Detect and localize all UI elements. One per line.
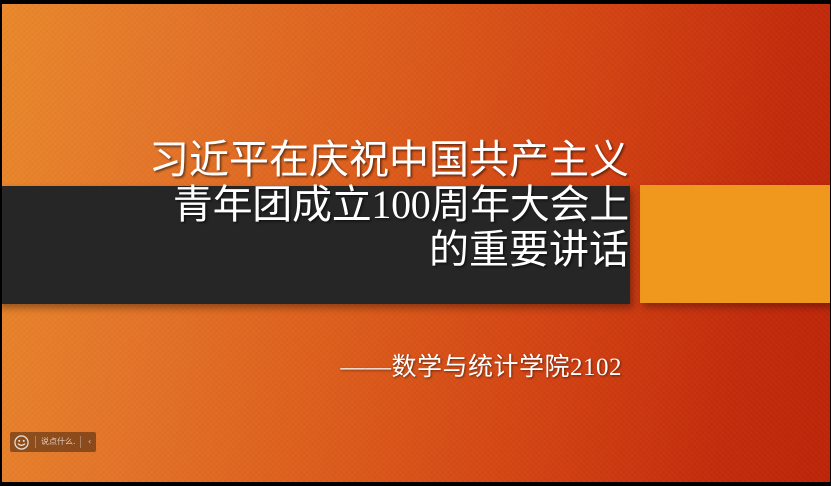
comment-bar-divider-1 — [35, 436, 36, 448]
presentation-window: 习近平在庆祝中国共产主义 青年团成立100周年大会上 的重要讲话 ——数学与统计… — [0, 0, 831, 486]
smiley-face-icon[interactable] — [13, 434, 30, 451]
slide-canvas: 习近平在庆祝中国共产主义 青年团成立100周年大会上 的重要讲话 ——数学与统计… — [2, 4, 830, 482]
slide-title: 习近平在庆祝中国共产主义 青年团成立100周年大会上 的重要讲话 — [2, 137, 629, 272]
comment-input-bar[interactable]: 说点什么... ‹ — [10, 432, 96, 452]
comment-bar-divider-2 — [80, 436, 81, 448]
slide-title-line-3: 的重要讲话 — [2, 227, 629, 272]
slide-title-line-1: 习近平在庆祝中国共产主义 — [2, 137, 629, 182]
slide-title-line-2: 青年团成立100周年大会上 — [2, 182, 629, 227]
collapse-comment-bar-button[interactable]: ‹ — [86, 437, 93, 447]
slide-subtitle: ——数学与统计学院2102 — [2, 352, 622, 384]
accent-rectangle — [640, 185, 830, 303]
comment-input[interactable]: 说点什么... — [41, 437, 75, 447]
